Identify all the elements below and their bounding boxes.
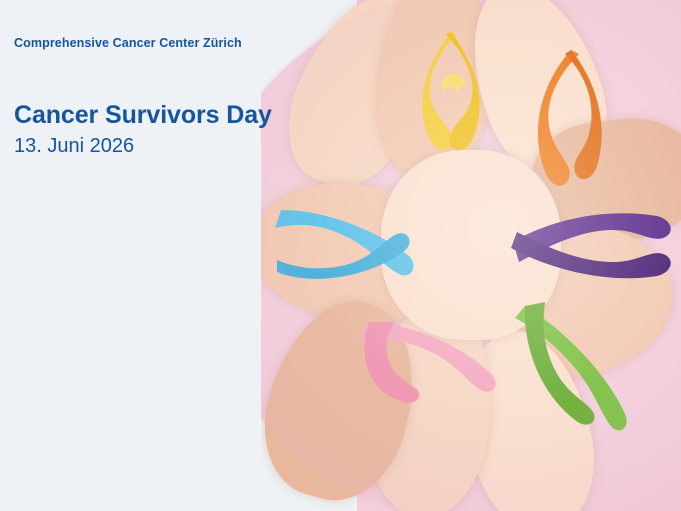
text-block: Comprehensive Cancer Center Zürich Cance… [14,36,304,158]
poster: Comprehensive Cancer Center Zürich Cance… [0,0,681,511]
photo-hands-with-ribbons [261,0,681,511]
photo-lighting-overlay [261,0,681,511]
event-date: 13. Juni 2026 [14,135,304,158]
page-title: Cancer Survivors Day [14,101,304,130]
organization-name: Comprehensive Cancer Center Zürich [14,36,304,51]
